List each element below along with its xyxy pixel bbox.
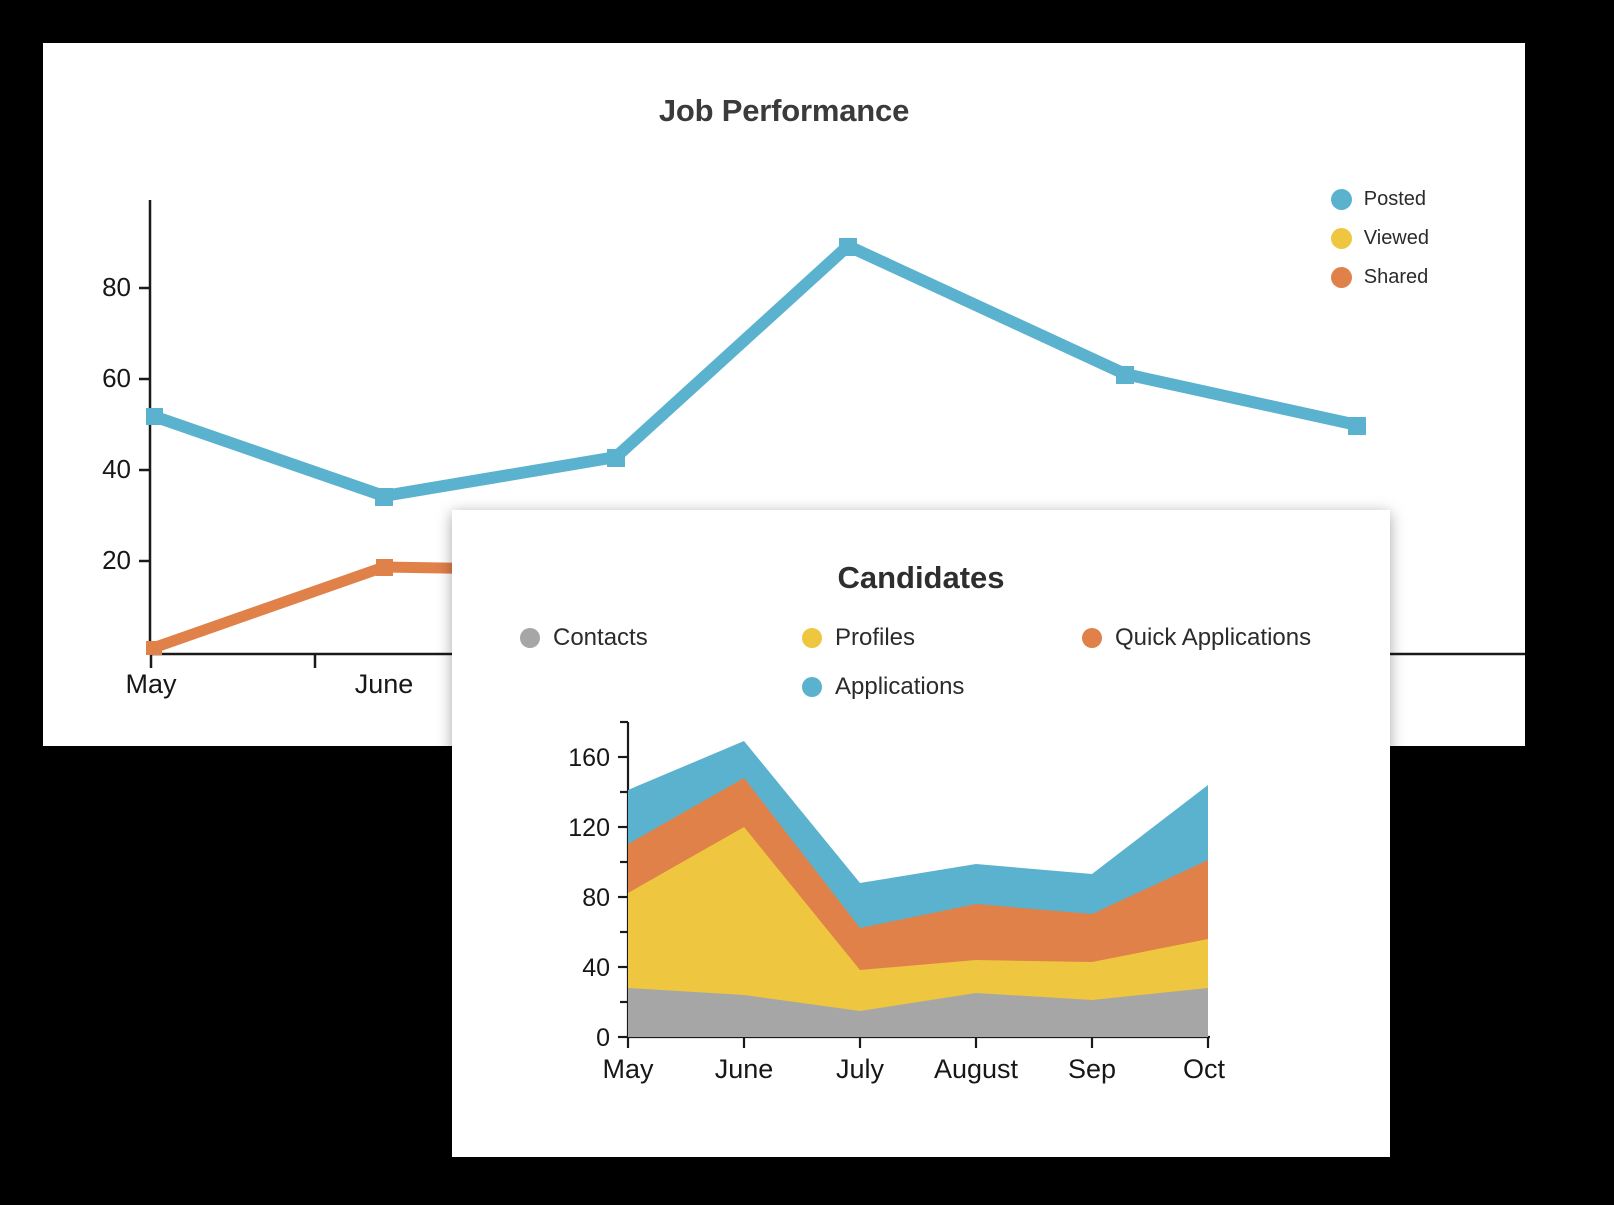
- job-performance-legend: Posted Viewed Shared: [1331, 188, 1429, 289]
- cand-xtick-august: August: [934, 1054, 1019, 1084]
- cand-ytick-40: 40: [582, 954, 610, 982]
- legend-label-viewed: Viewed: [1364, 227, 1429, 250]
- job-marker-shared-may: [146, 641, 162, 655]
- legend-item-posted[interactable]: Posted: [1331, 188, 1429, 211]
- cand-xtick-sep: Sep: [1068, 1054, 1116, 1084]
- cand-xtick-may: May: [602, 1054, 654, 1084]
- cand-ytick-80: 80: [582, 884, 610, 912]
- job-marker-shared-june: [376, 559, 393, 576]
- job-marker-posted-may: [146, 408, 163, 425]
- job-marker-posted-june: [375, 488, 393, 506]
- job-ytick-20: 20: [102, 545, 131, 575]
- candidates-card: Candidates Contacts Profiles Quick Appli…: [452, 510, 1390, 1157]
- job-marker-posted-oct: [1348, 417, 1366, 435]
- cand-y-ticks: [618, 722, 628, 1037]
- job-ytick-80: 80: [102, 272, 131, 302]
- cand-ytick-160: 160: [568, 744, 610, 772]
- job-marker-posted-july: [607, 449, 625, 467]
- job-ytick-60: 60: [102, 363, 131, 393]
- cand-x-ticks: [628, 1037, 1208, 1048]
- legend-item-shared[interactable]: Shared: [1331, 266, 1429, 289]
- legend-dot-shared-icon: [1331, 267, 1352, 288]
- cand-ytick-0: 0: [596, 1024, 610, 1052]
- cand-ytick-120: 120: [568, 814, 610, 842]
- job-marker-posted-sep: [1116, 366, 1134, 384]
- legend-dot-viewed-icon: [1331, 228, 1352, 249]
- candidates-chart: 160 120 80 40 0 May June July August: [452, 510, 1390, 1157]
- job-ytick-40: 40: [102, 454, 131, 484]
- legend-item-viewed[interactable]: Viewed: [1331, 227, 1429, 250]
- job-x-ticks: [151, 654, 479, 668]
- job-xtick-may: May: [125, 669, 177, 699]
- legend-label-posted: Posted: [1364, 188, 1426, 211]
- job-series-posted-line: [153, 246, 1357, 496]
- job-marker-posted-august: [839, 238, 857, 256]
- cand-xtick-oct: Oct: [1183, 1054, 1226, 1084]
- legend-label-shared: Shared: [1364, 266, 1429, 289]
- cand-xtick-june: June: [715, 1054, 774, 1084]
- cand-xtick-july: July: [836, 1054, 885, 1084]
- screen-root: Job Performance 80 60 40 20 M: [0, 0, 1614, 1205]
- legend-dot-posted-icon: [1331, 189, 1352, 210]
- job-xtick-june: June: [355, 669, 414, 699]
